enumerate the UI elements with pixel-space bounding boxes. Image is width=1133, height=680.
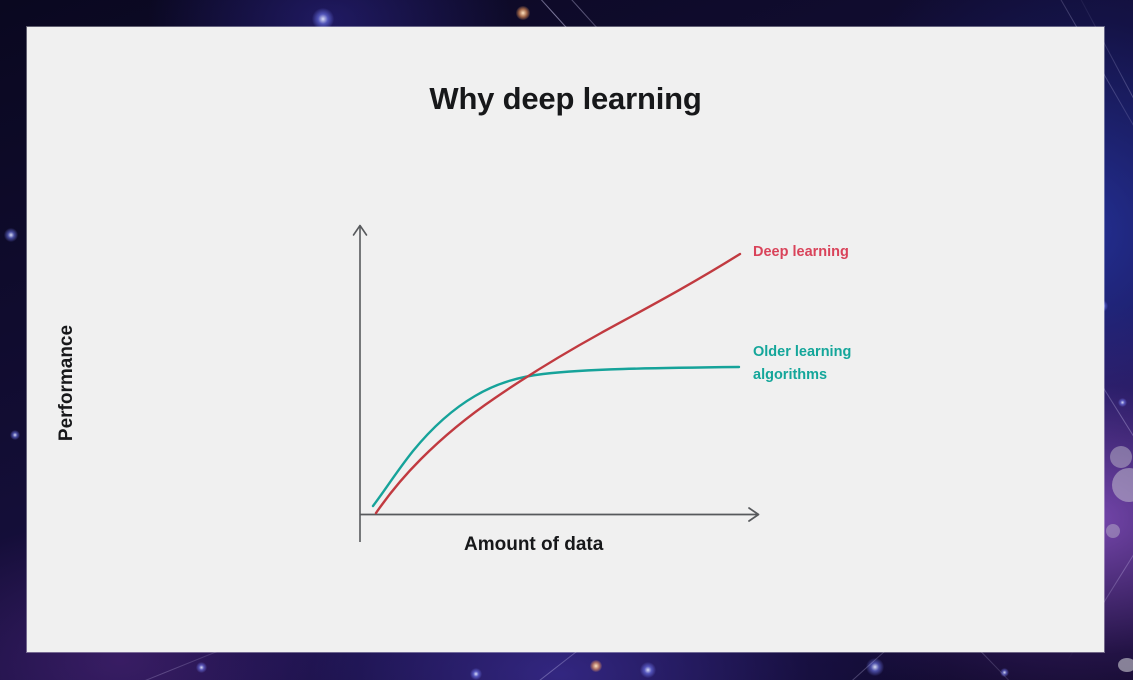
series-label-deep-learning: Deep learning xyxy=(753,241,849,264)
glow-particle-icon xyxy=(196,662,207,673)
glow-particle-icon xyxy=(866,658,884,676)
bokeh-circle-icon xyxy=(1110,446,1132,468)
bokeh-circle-icon xyxy=(1118,658,1133,672)
slide-panel: Why deep learning Amount of data xyxy=(27,27,1104,652)
performance-vs-data-chart xyxy=(27,27,1104,652)
glow-particle-icon xyxy=(1000,668,1009,677)
series-line-older-algorithms xyxy=(373,367,739,506)
chart-container: Amount of data Performance Deep learning… xyxy=(27,27,1104,652)
screenshot-root: Why deep learning Amount of data xyxy=(0,0,1133,680)
y-axis xyxy=(354,226,367,543)
y-axis-label: Performance xyxy=(56,303,78,463)
glow-particle-icon xyxy=(1118,398,1127,407)
glow-particle-icon xyxy=(10,430,20,440)
spark-icon xyxy=(516,6,530,20)
glow-particle-icon xyxy=(470,668,482,680)
x-axis xyxy=(360,508,759,521)
x-axis-label: Amount of data xyxy=(464,534,603,556)
bokeh-circle-icon xyxy=(1112,468,1133,502)
glow-particle-icon xyxy=(4,228,18,242)
glow-particle-icon xyxy=(640,662,656,678)
bokeh-circle-icon xyxy=(1106,524,1120,538)
series-line-deep-learning xyxy=(376,254,740,513)
series-label-older-algorithms: Older learning algorithms xyxy=(753,341,851,388)
spark-icon xyxy=(590,660,602,672)
